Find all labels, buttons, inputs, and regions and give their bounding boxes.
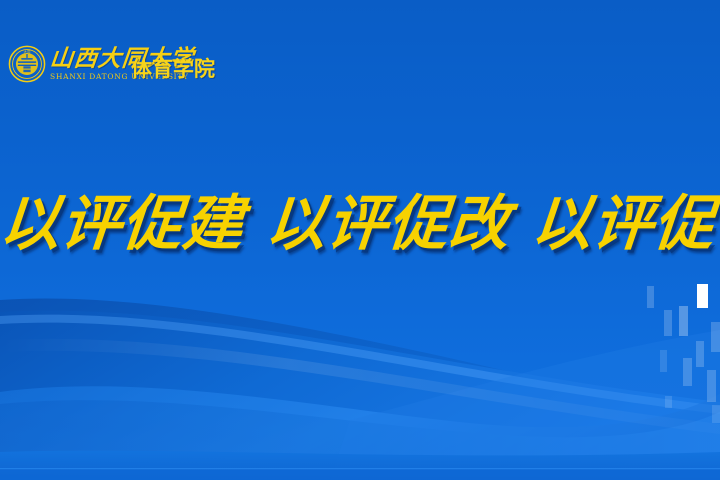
decorative-bar — [683, 358, 692, 386]
svg-text:大同: 大同 — [24, 49, 31, 54]
decorative-bar — [647, 286, 654, 308]
university-seal-icon: 大同 — [8, 45, 46, 83]
decorative-bar — [712, 405, 720, 423]
slide-title: 以评促建 以评促改 以评促管 以评促强 — [0, 186, 720, 262]
decorative-bar — [711, 322, 720, 352]
decorative-bar — [696, 341, 704, 367]
decorative-bar — [664, 310, 672, 336]
decorative-bar — [707, 370, 716, 402]
department-name: 体育学院 — [131, 57, 215, 81]
presentation-slide: 大同 山西大同大学 SHANXI DATONG UNIVERSITY 体育学院 … — [0, 0, 720, 480]
decorative-bar — [660, 350, 667, 372]
decorative-bar — [665, 396, 672, 408]
decorative-bar — [679, 306, 688, 336]
decorative-bar — [697, 284, 708, 308]
